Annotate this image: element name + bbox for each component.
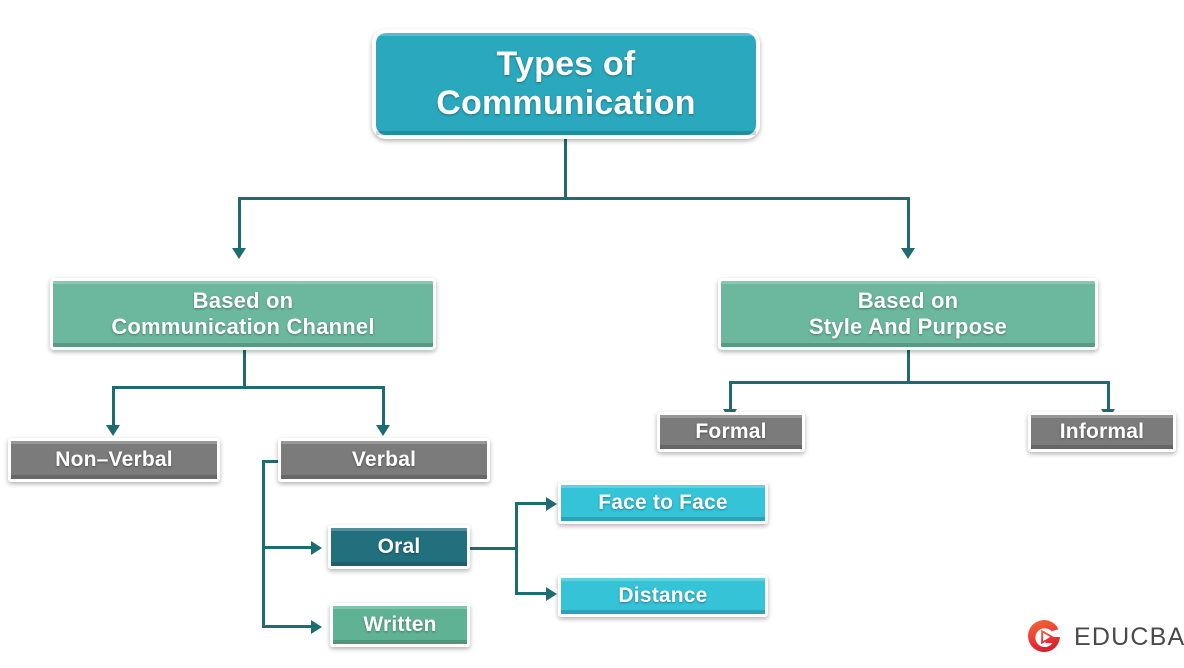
arrow-to-oral bbox=[311, 541, 322, 555]
node-written-label: Written bbox=[355, 613, 444, 637]
node-informal-label: Informal bbox=[1052, 420, 1152, 444]
educba-logo[interactable]: EDUCBA bbox=[1025, 617, 1184, 657]
node-based-on-communication-channel[interactable]: Based on Communication Channel bbox=[50, 278, 436, 350]
node-distance-label: Distance bbox=[610, 584, 715, 608]
connector-style-bus bbox=[729, 381, 1110, 384]
arrow-to-style bbox=[901, 248, 915, 259]
arrow-to-non-verbal bbox=[106, 425, 120, 436]
node-oral[interactable]: Oral bbox=[328, 525, 470, 569]
node-highlight bbox=[376, 33, 756, 36]
educba-play-icon bbox=[1025, 617, 1065, 657]
connector-to-written bbox=[262, 625, 314, 628]
node-shadow-edge bbox=[660, 445, 802, 449]
node-shadow-edge bbox=[721, 343, 1095, 347]
connector-to-distance bbox=[515, 592, 549, 595]
node-oral-label: Oral bbox=[370, 535, 429, 559]
connector-channel-stem bbox=[243, 350, 246, 388]
node-shadow-edge bbox=[331, 562, 467, 566]
node-highlight bbox=[11, 441, 217, 444]
arrow-to-written bbox=[311, 620, 322, 634]
node-verbal-label: Verbal bbox=[344, 448, 424, 472]
node-shadow-edge bbox=[333, 640, 467, 644]
connector-level2-bus bbox=[238, 197, 910, 200]
node-channel-label: Based on Communication Channel bbox=[103, 288, 382, 339]
node-shadow-edge bbox=[53, 343, 433, 347]
node-highlight bbox=[333, 606, 467, 609]
node-written[interactable]: Written bbox=[330, 603, 470, 647]
node-non-verbal[interactable]: Non–Verbal bbox=[8, 438, 220, 482]
node-style-label: Based on Style And Purpose bbox=[801, 288, 1015, 339]
node-distance[interactable]: Distance bbox=[558, 575, 768, 617]
connector-root-stem bbox=[564, 137, 567, 199]
connector-style-stem bbox=[907, 350, 910, 383]
node-formal-label: Formal bbox=[687, 420, 774, 444]
node-verbal[interactable]: Verbal bbox=[278, 438, 490, 482]
node-highlight bbox=[1031, 415, 1173, 418]
node-channel-line2: Communication Channel bbox=[111, 314, 374, 339]
arrow-to-face-to-face bbox=[546, 497, 557, 511]
node-shadow-edge bbox=[376, 131, 756, 135]
node-informal[interactable]: Informal bbox=[1028, 412, 1176, 452]
connector-to-informal bbox=[1107, 381, 1110, 410]
node-non-verbal-label: Non–Verbal bbox=[47, 448, 181, 472]
node-shadow-edge bbox=[561, 610, 765, 614]
node-face-to-face[interactable]: Face to Face bbox=[558, 482, 768, 524]
node-highlight bbox=[561, 485, 765, 488]
connector-verbal-bus bbox=[262, 460, 265, 628]
node-root-line2: Communication bbox=[436, 84, 696, 122]
node-highlight bbox=[331, 528, 467, 531]
node-shadow-edge bbox=[561, 517, 765, 521]
connector-to-formal bbox=[729, 381, 732, 410]
connector-to-oral bbox=[262, 546, 314, 549]
diagram-canvas: Types of Communication Based on Communic… bbox=[0, 0, 1184, 668]
node-root-line1: Types of bbox=[497, 45, 636, 83]
arrow-to-verbal bbox=[376, 425, 390, 436]
node-channel-line1: Based on bbox=[193, 288, 294, 313]
node-types-of-communication[interactable]: Types of Communication bbox=[372, 29, 760, 139]
node-highlight bbox=[561, 578, 765, 581]
connector-to-face-to-face bbox=[515, 502, 549, 505]
connector-oral-bus bbox=[515, 502, 518, 594]
node-shadow-edge bbox=[11, 475, 217, 479]
node-style-line2: Style And Purpose bbox=[809, 314, 1007, 339]
connector-to-channel bbox=[238, 197, 241, 249]
node-highlight bbox=[660, 415, 802, 418]
connector-to-verbal bbox=[382, 386, 385, 426]
node-style-line1: Based on bbox=[858, 288, 959, 313]
connector-to-style bbox=[907, 197, 910, 249]
educba-wordmark: EDUCBA bbox=[1074, 623, 1184, 652]
arrow-to-distance bbox=[546, 587, 557, 601]
node-highlight bbox=[53, 281, 433, 284]
node-highlight bbox=[721, 281, 1095, 284]
node-root-label: Types of Communication bbox=[428, 45, 704, 124]
node-shadow-edge bbox=[1031, 445, 1173, 449]
arrow-to-channel bbox=[232, 248, 246, 259]
node-face-to-face-label: Face to Face bbox=[590, 491, 736, 515]
connector-to-non-verbal bbox=[112, 386, 115, 426]
node-formal[interactable]: Formal bbox=[657, 412, 805, 452]
node-based-on-style-and-purpose[interactable]: Based on Style And Purpose bbox=[718, 278, 1098, 350]
connector-oral-exit bbox=[468, 547, 518, 550]
node-highlight bbox=[281, 441, 487, 444]
node-shadow-edge bbox=[281, 475, 487, 479]
connector-channel-bus bbox=[112, 386, 384, 389]
